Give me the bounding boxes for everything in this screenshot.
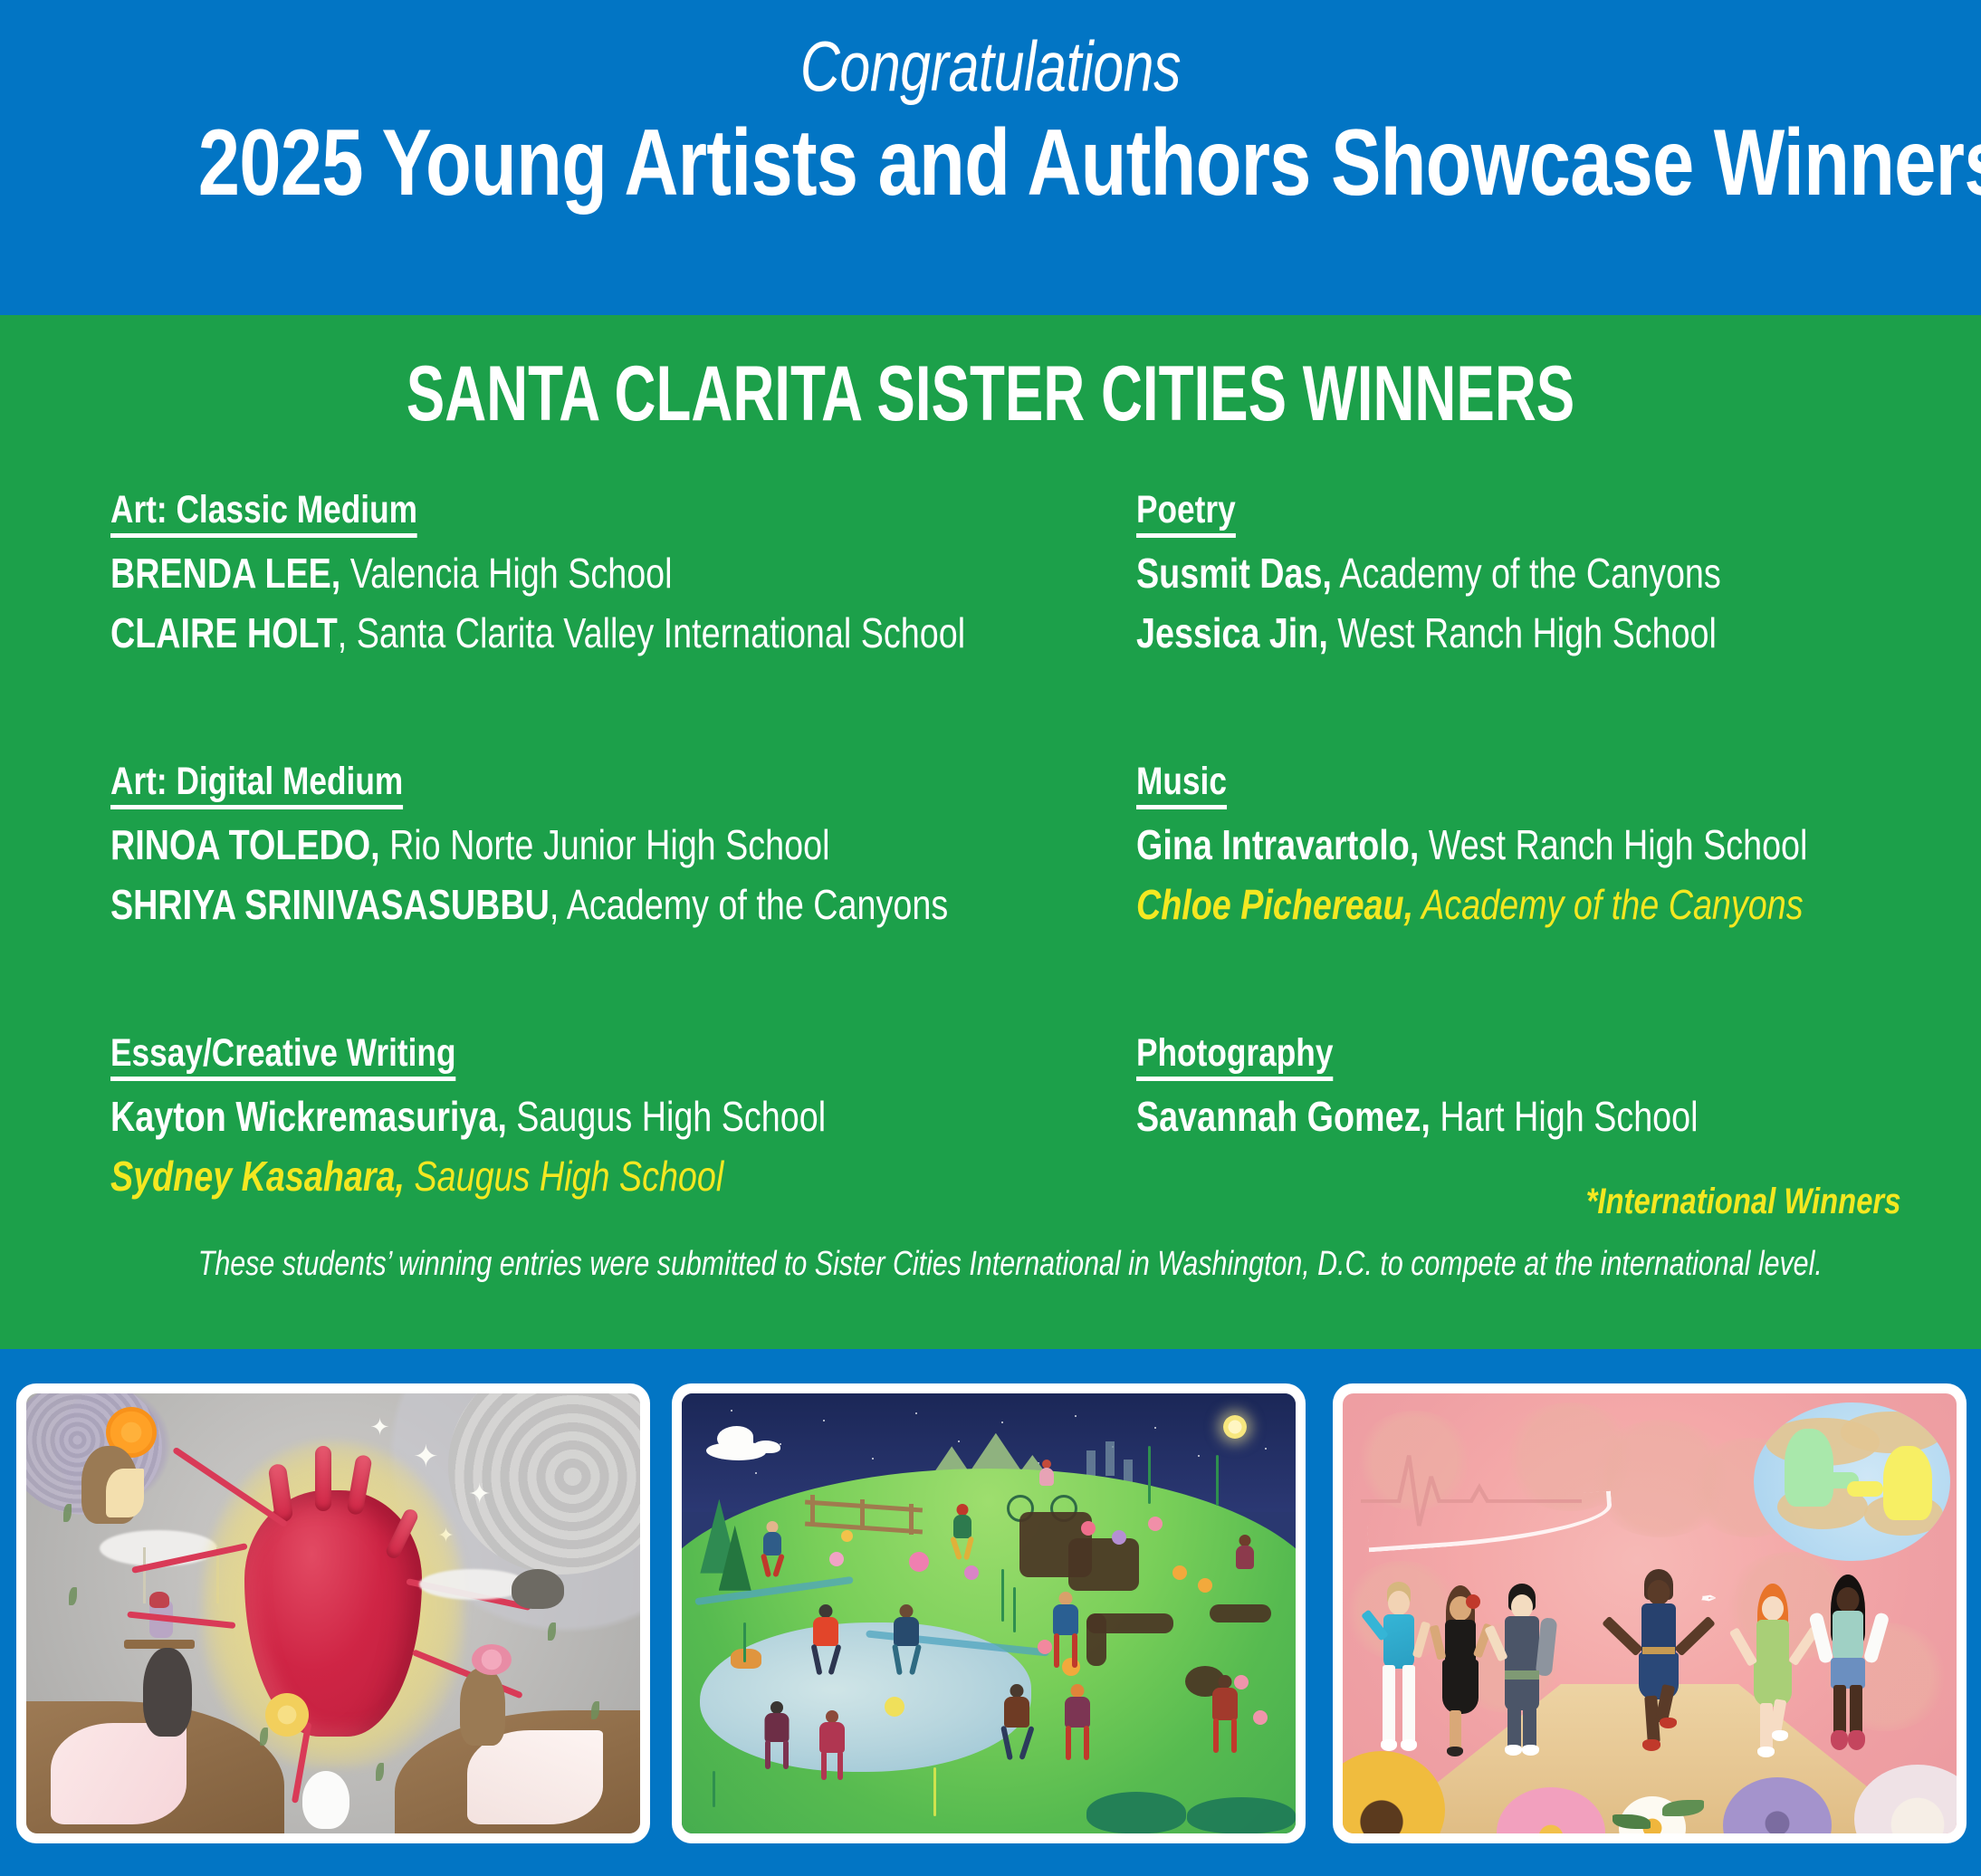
bush-shape xyxy=(1086,1792,1186,1833)
dove-icon xyxy=(302,1771,349,1829)
sunflower-icon xyxy=(1343,1751,1445,1833)
winner-name: Susmit Das, xyxy=(1136,550,1332,597)
yellow-hug-arm xyxy=(1847,1481,1883,1497)
green-hug-character xyxy=(1785,1429,1833,1507)
person-figure xyxy=(891,1604,922,1675)
figure-arm xyxy=(106,1469,144,1517)
winner-entry: RINOA TOLEDO, Rio Norte Junior High Scho… xyxy=(110,822,927,869)
hair-flower-icon xyxy=(1466,1594,1480,1609)
person-figure xyxy=(1234,1535,1256,1591)
winner-school-text: West Ranch High School xyxy=(1337,609,1717,656)
artwork-heart-canvas: ✦ ✦ ✦ ✦ xyxy=(26,1393,640,1833)
winner-name: Kayton Wickremasuriya, xyxy=(110,1093,507,1140)
winner-entry-international: Chloe Pichereau, Academy of the Canyons xyxy=(1136,882,1819,929)
bear-figure xyxy=(512,1569,564,1609)
person-figure xyxy=(952,1504,973,1560)
category-heading: Essay/Creative Writing xyxy=(110,1032,455,1081)
page-title: 2025 Young Artists and Authors Showcase … xyxy=(198,116,1783,210)
person-figure xyxy=(810,1604,841,1675)
winner-entry: Jessica Jin, West Ranch High School xyxy=(1136,610,1819,657)
person-figure xyxy=(1050,1592,1081,1670)
winner-entry: Gina Intravartolo, West Ranch High Schoo… xyxy=(1136,822,1819,869)
winner-school-text: Hart High School xyxy=(1440,1093,1698,1140)
winner-school-text: Valencia High School xyxy=(350,550,673,597)
winner-school-text: Saugus High School xyxy=(516,1093,826,1140)
winner-school-text: Rio Norte Junior High School xyxy=(389,821,829,868)
category-poetry: Poetry Susmit Das, Academy of the Canyon… xyxy=(1136,489,1969,656)
person-figure xyxy=(761,1521,783,1574)
dove-icon xyxy=(706,1424,790,1466)
winner-entry: Susmit Das, Academy of the Canyons xyxy=(1136,550,1819,598)
winner-name: Savannah Gomez, xyxy=(1136,1093,1431,1140)
winners-grid: Art: Classic Medium BRENDA LEE, Valencia… xyxy=(0,489,1981,1268)
winner-name: Chloe Pichereau, xyxy=(1136,881,1413,928)
winner-school xyxy=(340,550,349,597)
figure-hair xyxy=(460,1668,505,1746)
winner-entry: Kayton Wickremasuriya, Saugus High Schoo… xyxy=(110,1094,927,1141)
category-photography: Photography Savannah Gomez, Hart High Sc… xyxy=(1136,1032,1969,1141)
artwork-thumbnail-1[interactable]: ✦ ✦ ✦ ✦ xyxy=(16,1383,650,1843)
winner-school-text: West Ranch High School xyxy=(1429,821,1808,868)
category-essay-creative-writing: Essay/Creative Writing Kayton Wickremasu… xyxy=(110,1032,1106,1200)
winner-school-text: Academy of the Canyons xyxy=(1339,550,1720,597)
fence-post xyxy=(860,1499,865,1530)
category-music: Music Gina Intravartolo, West Ranch High… xyxy=(1136,761,1969,928)
submission-disclaimer: These students’ winning entries were sub… xyxy=(198,1245,1783,1284)
person-figure-kimono xyxy=(1497,1584,1547,1763)
person-figure xyxy=(1038,1460,1056,1501)
artwork-holding-hands-canvas: ✒ xyxy=(1343,1393,1957,1833)
category-heading: Art: Digital Medium xyxy=(110,761,403,809)
puzzle-piece xyxy=(1068,1538,1139,1591)
winner-name: CLAIRE HOLT xyxy=(110,609,338,656)
waist-belt xyxy=(1642,1647,1675,1654)
winner-name: Gina Intravartolo, xyxy=(1136,821,1419,868)
winner-entry: Savannah Gomez, Hart High School xyxy=(1136,1094,1819,1141)
bush-shape xyxy=(1187,1797,1296,1833)
winner-name: Jessica Jin, xyxy=(1136,609,1328,656)
person-figure-flamenco xyxy=(1435,1585,1486,1763)
person-figure xyxy=(1062,1684,1093,1762)
winner-school-text: , Academy of the Canyons xyxy=(550,881,948,928)
heart-vessel xyxy=(315,1446,331,1511)
sparkle-icon: ✦ xyxy=(413,1441,439,1472)
person-figure-hawaiian xyxy=(1373,1582,1424,1763)
section-title: SANTA CLARITA SISTER CITIES WINNERS xyxy=(257,349,1723,439)
person-figure xyxy=(817,1710,847,1781)
lotus-icon xyxy=(1854,1765,1957,1833)
person-figure xyxy=(1001,1684,1032,1762)
category-art-digital-medium: Art: Digital Medium RINOA TOLEDO, Rio No… xyxy=(110,761,1106,928)
sparkle-icon: ✦ xyxy=(370,1415,390,1439)
artwork-green-hill-canvas xyxy=(682,1393,1296,1833)
artist-signature: ✒ xyxy=(1699,1587,1715,1611)
swing-seat xyxy=(124,1640,195,1649)
city-building xyxy=(1105,1441,1115,1476)
international-winners-legend: *International Winners xyxy=(357,1182,1981,1222)
figure-dress xyxy=(51,1723,187,1824)
flower-crown xyxy=(472,1644,512,1675)
winner-school-text: Academy of the Canyons xyxy=(1421,881,1803,928)
artwork-thumbnail-3[interactable]: ✒ xyxy=(1333,1383,1967,1843)
winner-name: SHRIYA SRINIVASASUBBU xyxy=(110,881,550,928)
person-figure xyxy=(1210,1675,1240,1755)
congratulations-eyebrow: Congratulations xyxy=(218,25,1764,108)
winner-entry: SHRIYA SRINIVASASUBBU, Academy of the Ca… xyxy=(110,882,927,929)
person-figure xyxy=(761,1701,792,1770)
winner-name: RINOA TOLEDO, xyxy=(110,821,380,868)
winner-entry: CLAIRE HOLT, Santa Clarita Valley Intern… xyxy=(110,610,927,657)
person-figure-greendress xyxy=(1747,1585,1798,1763)
winner-school-text: , Santa Clarita Valley International Sch… xyxy=(338,609,965,656)
person-figure-denim xyxy=(1822,1576,1874,1763)
artwork-thumbnail-2[interactable] xyxy=(672,1383,1306,1843)
category-heading: Photography xyxy=(1136,1032,1333,1081)
swing-rope xyxy=(143,1547,146,1603)
category-heading: Poetry xyxy=(1136,489,1236,538)
sparkle-icon: ✦ xyxy=(468,1481,491,1508)
artwork-row: ✦ ✦ ✦ ✦ xyxy=(0,1383,1981,1847)
category-art-classic-medium: Art: Classic Medium BRENDA LEE, Valencia… xyxy=(110,489,1106,656)
category-heading: Music xyxy=(1136,761,1227,809)
yellow-hug-character xyxy=(1883,1446,1932,1520)
person-figure-african xyxy=(1632,1569,1686,1763)
dog-figure xyxy=(731,1649,761,1669)
moon-icon xyxy=(1223,1415,1247,1439)
winner-name: BRENDA LEE, xyxy=(110,550,340,597)
fence-post xyxy=(810,1495,815,1526)
fence-post xyxy=(909,1504,914,1535)
figure-hair xyxy=(143,1648,192,1737)
kimono-sash xyxy=(1505,1670,1539,1680)
puzzle-piece xyxy=(1210,1604,1271,1622)
category-heading: Art: Classic Medium xyxy=(110,489,417,538)
winner-entry: BRENDA LEE, Valencia High School xyxy=(110,550,927,598)
child-hair xyxy=(149,1592,169,1608)
puzzle-piece xyxy=(1086,1613,1106,1666)
